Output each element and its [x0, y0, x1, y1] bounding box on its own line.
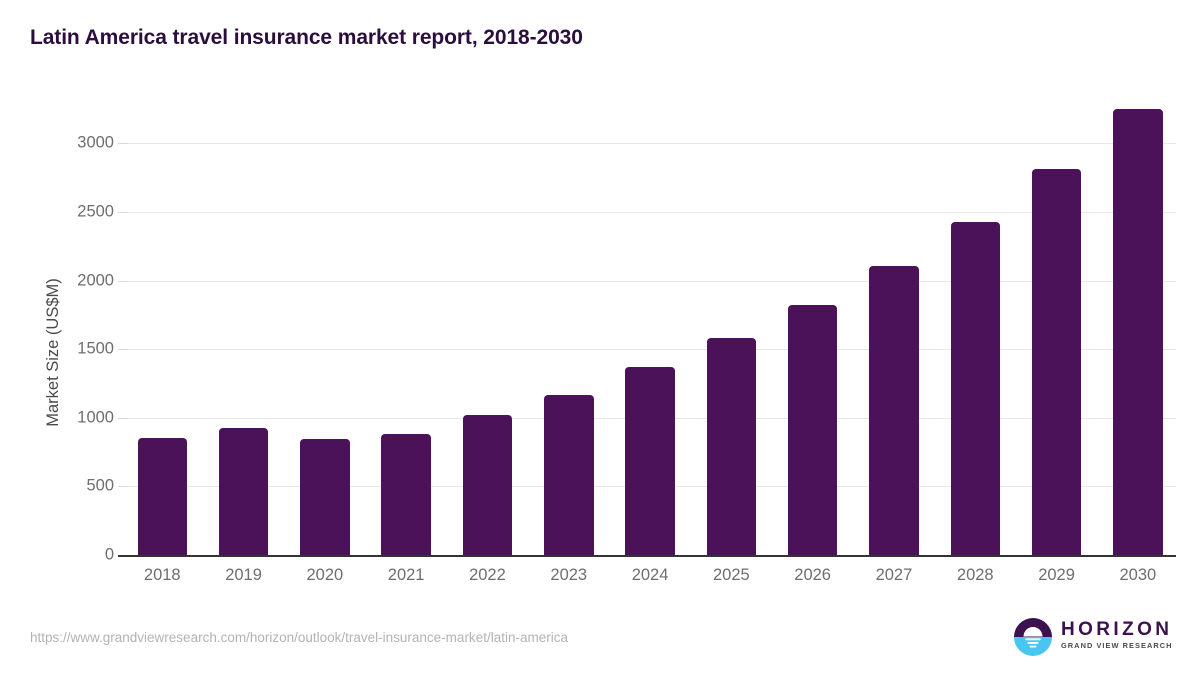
bar-2022[interactable] [463, 415, 513, 555]
horizon-logo-icon [1013, 617, 1053, 657]
x-axis-tick-label-2030: 2030 [1093, 566, 1183, 585]
x-axis-tick-label-2020: 2020 [280, 566, 370, 585]
bar-2018[interactable] [138, 438, 188, 555]
x-axis-tick-label-2019: 2019 [199, 566, 289, 585]
x-axis-tick-label-2025: 2025 [686, 566, 776, 585]
bar-2019[interactable] [219, 428, 269, 555]
bar-2027[interactable] [869, 266, 919, 555]
bar-2028[interactable] [951, 222, 1001, 555]
horizon-logo-text: HORIZON GRAND VIEW RESEARCH [1061, 619, 1173, 651]
horizon-logo-wordmark: HORIZON [1061, 619, 1173, 640]
x-axis-tick-label-2026: 2026 [768, 566, 858, 585]
x-axis-tick-label-2027: 2027 [849, 566, 939, 585]
x-axis-tick-label-2029: 2029 [1012, 566, 1102, 585]
bar-2020[interactable] [300, 439, 350, 555]
x-axis-tick-labels: 2018201920202021202220232024202520262027… [0, 566, 1200, 596]
x-axis-tick-label-2028: 2028 [930, 566, 1020, 585]
x-axis-tick-label-2023: 2023 [524, 566, 614, 585]
bar-2023[interactable] [544, 395, 594, 555]
bar-2024[interactable] [625, 367, 675, 555]
x-axis-tick-label-2018: 2018 [117, 566, 207, 585]
bar-2021[interactable] [381, 434, 431, 555]
bar-2025[interactable] [707, 338, 757, 555]
x-axis-tick-label-2021: 2021 [361, 566, 451, 585]
horizon-logo-subtitle: GRAND VIEW RESEARCH [1061, 640, 1173, 651]
source-url[interactable]: https://www.grandviewresearch.com/horizo… [30, 630, 568, 645]
chart-plot-area: Market Size (US$M) 050010001500200025003… [0, 0, 1200, 675]
x-axis-tick-label-2022: 2022 [442, 566, 532, 585]
bar-2026[interactable] [788, 305, 838, 555]
bar-2029[interactable] [1032, 169, 1082, 555]
x-axis-tick-label-2024: 2024 [605, 566, 695, 585]
horizon-logo[interactable]: HORIZON GRAND VIEW RESEARCH [1013, 617, 1173, 659]
bar-2030[interactable] [1113, 109, 1163, 555]
chart-page: Latin America travel insurance market re… [0, 0, 1200, 675]
